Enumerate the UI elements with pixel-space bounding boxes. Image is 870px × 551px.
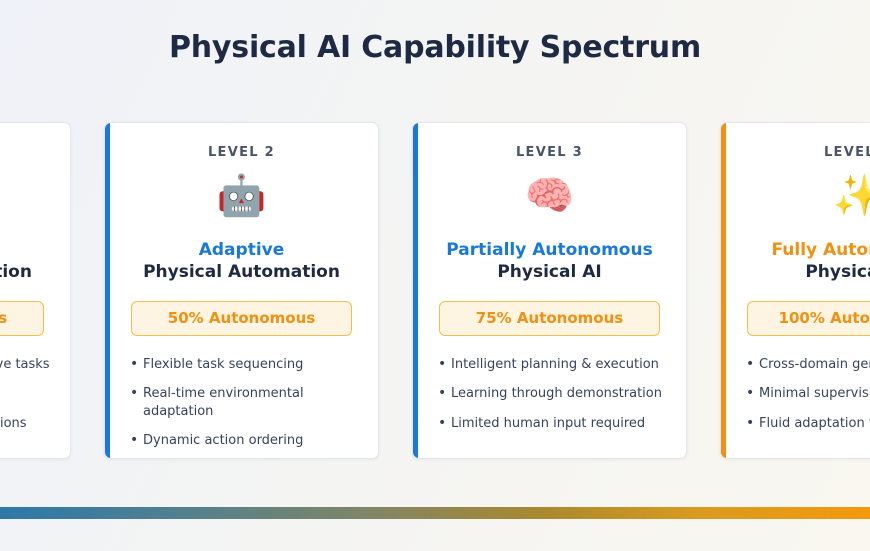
brain-icon: 🧠	[429, 176, 670, 222]
list-item: Dynamic action ordering	[143, 432, 362, 450]
capability-name-secondary: Physical Automation	[121, 262, 362, 283]
page-title: Physical AI Capability Spectrum	[0, 30, 870, 65]
card-accent-bar	[721, 123, 726, 458]
feature-list: Pre-programmed repetitive tasks Structur…	[0, 356, 54, 433]
capability-cards-row: LEVEL 1 ⚙️ Fixed Physical Automation 25%…	[0, 122, 870, 459]
list-item: Pre-programmed repetitive tasks	[0, 356, 54, 374]
level-label: LEVEL 4	[737, 145, 870, 160]
list-item: Intelligent planning & execution	[451, 356, 670, 374]
level-label: LEVEL 1	[0, 145, 54, 160]
list-item: Minimal supervision needed	[759, 385, 870, 403]
autonomy-badge: 50% Autonomous	[131, 301, 352, 336]
capability-card-level-2[interactable]: LEVEL 2 🤖 Adaptive Physical Automation 5…	[104, 122, 379, 459]
list-item: Flexible task sequencing	[143, 356, 362, 374]
list-item: Real-time environmental adaptation	[143, 385, 362, 420]
level-label: LEVEL 3	[429, 145, 670, 160]
robot-icon: 🤖	[121, 176, 362, 222]
capability-name-secondary: Physical AI	[737, 262, 870, 283]
feature-list: Flexible task sequencing Real-time envir…	[121, 356, 362, 450]
capability-name-primary: Fixed	[0, 240, 54, 261]
autonomy-badge: 75% Autonomous	[439, 301, 660, 336]
spectrum-gradient-bar	[0, 507, 870, 519]
feature-list: Cross-domain generalization Minimal supe…	[737, 356, 870, 433]
gear-icon: ⚙️	[0, 176, 54, 222]
list-item: Limited human input required	[451, 415, 670, 433]
list-item: Cross-domain generalization	[759, 356, 870, 374]
autonomy-badge: 100% Autonomous	[747, 301, 870, 336]
list-item: No deviation from set actions	[0, 415, 54, 433]
capability-name-secondary: Physical Automation	[0, 262, 54, 283]
capability-name-primary: Adaptive	[121, 240, 362, 261]
capability-name-primary: Fully Autonomous	[737, 240, 870, 261]
capability-spectrum-page: Physical AI Capability Spectrum LEVEL 1 …	[0, 0, 870, 551]
list-item: Fluid adaptation to novelty	[759, 415, 870, 433]
capability-card-level-1[interactable]: LEVEL 1 ⚙️ Fixed Physical Automation 25%…	[0, 122, 71, 459]
capability-card-level-4[interactable]: LEVEL 4 ✨ Fully Autonomous Physical AI 1…	[720, 122, 870, 459]
level-label: LEVEL 2	[121, 145, 362, 160]
capability-card-level-3[interactable]: LEVEL 3 🧠 Partially Autonomous Physical …	[412, 122, 687, 459]
capability-name-primary: Partially Autonomous	[429, 240, 670, 261]
autonomy-badge: 25% Autonomous	[0, 301, 44, 336]
list-item: Structured environments	[0, 385, 54, 403]
sparkles-icon: ✨	[737, 176, 870, 222]
card-accent-bar	[105, 123, 110, 458]
capability-name-secondary: Physical AI	[429, 262, 670, 283]
card-accent-bar	[413, 123, 418, 458]
feature-list: Intelligent planning & execution Learnin…	[429, 356, 670, 433]
list-item: Learning through demonstration	[451, 385, 670, 403]
